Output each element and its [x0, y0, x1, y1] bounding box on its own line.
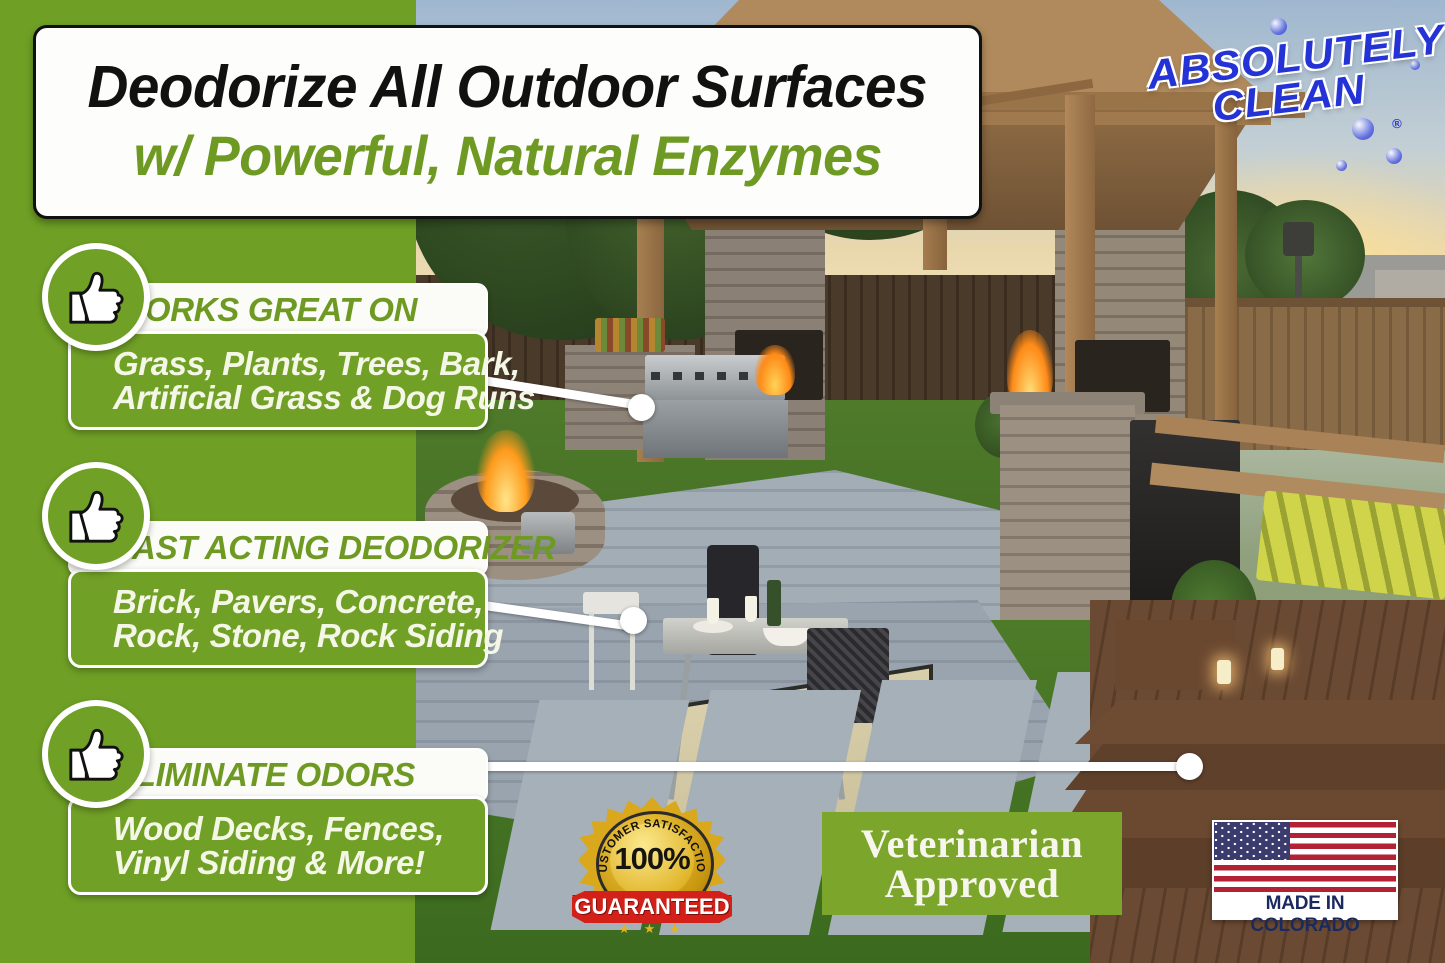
bench-cushions [1256, 490, 1445, 599]
feature-body-line2: Artificial Grass & Dog Runs [113, 381, 471, 415]
headline-box: Deodorize All Outdoor Surfaces w/ Powerf… [33, 25, 982, 219]
wine-glass [707, 598, 719, 624]
guarantee-ribbon: GUARANTEED [572, 891, 732, 923]
veterinarian-line2: Approved [885, 864, 1059, 903]
callout-connector-line-3 [420, 762, 1195, 771]
veterinarian-approved-badge: Veterinarian Approved [822, 812, 1122, 915]
thumbs-up-icon [42, 462, 150, 570]
feature-body-line1: Grass, Plants, Trees, Bark, [113, 347, 471, 381]
seal-stars-icon: ★ ★ ★ [616, 921, 688, 937]
bottles [595, 318, 665, 352]
bubble-icon [1410, 60, 1420, 70]
bubble-icon [1352, 118, 1374, 140]
callout-connector-dot-1 [628, 394, 655, 421]
feature-body-line1: Brick, Pavers, Concrete, [113, 585, 471, 619]
callout-connector-dot-2 [620, 607, 647, 634]
headline-primary: Deodorize All Outdoor Surfaces [88, 58, 928, 117]
thumbs-up-icon [42, 700, 150, 808]
bubble-icon [1386, 148, 1402, 164]
deck-step [1075, 700, 1445, 744]
grill-cabinet [643, 400, 788, 458]
fireplace-flame [755, 345, 795, 395]
satisfaction-guarantee-seal: CUSTOMER SATISFACTION 100% GUARANTEED ★ … [572, 795, 732, 935]
feature-body: Brick, Pavers, Concrete, Rock, Stone, Ro… [68, 569, 488, 668]
candle [1217, 660, 1231, 684]
feature-body-line2: Vinyl Siding & More! [113, 846, 471, 880]
feature-body: Grass, Plants, Trees, Bark, Artificial G… [68, 331, 488, 430]
bubble-icon [1336, 160, 1347, 171]
made-in-colorado-label: MADE IN COLORADO [1214, 893, 1396, 937]
feature-body-line1: Wood Decks, Fences, [113, 812, 471, 846]
us-flag-icon [1214, 822, 1396, 892]
candle [1271, 648, 1284, 670]
lamp-head [1283, 222, 1314, 256]
feature-body-line2: Rock, Stone, Rock Siding [113, 619, 471, 653]
product-marketing-poster: Deodorize All Outdoor Surfaces w/ Powerf… [0, 0, 1445, 963]
made-in-colorado-badge: MADE IN COLORADO [1212, 820, 1398, 920]
flag-stars [1214, 822, 1290, 860]
veterinarian-line1: Veterinarian [861, 824, 1083, 863]
feature-body: Wood Decks, Fences, Vinyl Siding & More! [68, 796, 488, 895]
thumbs-up-icon [42, 243, 150, 351]
headline-secondary: w/ Powerful, Natural Enzymes [133, 127, 881, 186]
fire-pit-flame [477, 430, 535, 512]
seal-percent: 100% [596, 841, 708, 877]
callout-connector-dot-3 [1176, 753, 1203, 780]
guarantee-ribbon-label: GUARANTEED [574, 894, 729, 920]
bubble-icon [1270, 18, 1287, 35]
wine-glass [745, 596, 757, 622]
pavilion-post [1215, 100, 1237, 430]
wine-bottle [767, 580, 781, 626]
